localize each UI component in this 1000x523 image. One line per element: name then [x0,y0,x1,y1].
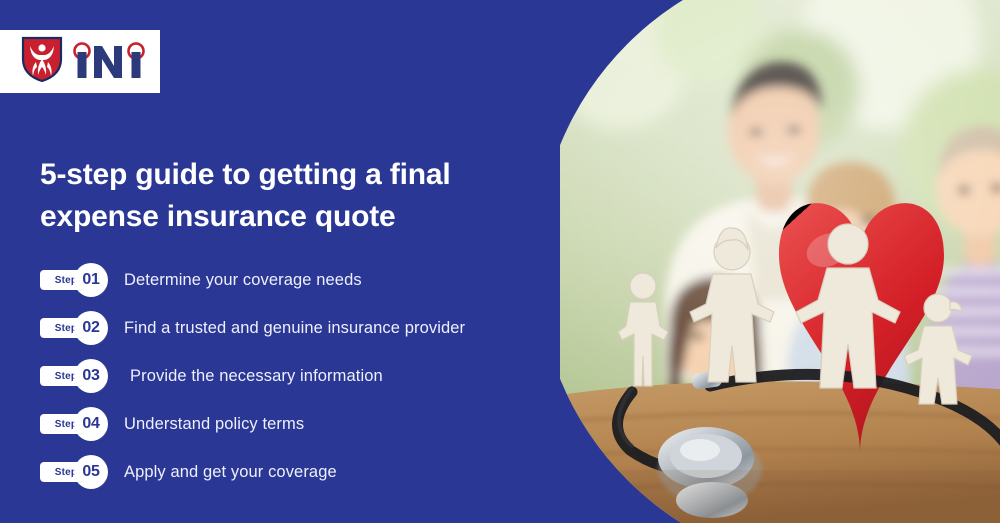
logo-wordmark [68,38,160,86]
step-badge: Step 05 [40,455,112,489]
step-text: Determine your coverage needs [124,271,560,290]
artwork-panel [560,0,1000,523]
step-text: Find a trusted and genuine insurance pro… [124,319,560,338]
step-badge: Step 01 [40,263,112,297]
steps-list: Step 01 Determine your coverage needs St… [40,256,560,496]
family-insurance-photo [560,0,1000,523]
step-badge: Step 04 [40,407,112,441]
list-item: Step 04 Understand policy terms [40,400,560,448]
list-item: Step 03 Provide the necessary informatio… [40,352,560,400]
ini-logo[interactable] [0,30,160,93]
list-item: Step 05 Apply and get your coverage [40,448,560,496]
shield-icon [20,35,64,88]
step-number: 05 [74,455,108,489]
step-number: 04 [74,407,108,441]
page-title: 5-step guide to getting a final expense … [40,154,510,238]
step-number: 02 [74,311,108,345]
step-text: Understand policy terms [124,415,560,434]
step-badge: Step 03 [40,359,112,393]
step-number: 03 [74,359,108,393]
list-item: Step 01 Determine your coverage needs [40,256,560,304]
step-number: 01 [74,263,108,297]
step-text: Provide the necessary information [130,367,560,386]
infographic-canvas: 5-step guide to getting a final expense … [0,0,1000,523]
step-badge: Step 02 [40,311,112,345]
step-text: Apply and get your coverage [124,463,560,482]
list-item: Step 02 Find a trusted and genuine insur… [40,304,560,352]
